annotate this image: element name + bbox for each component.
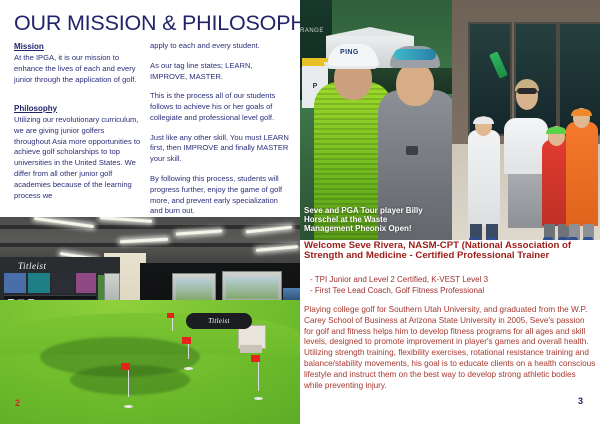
junior-3-cap [571, 109, 592, 116]
mission-philosophy-column: Mission At the IPGA, it is our mission t… [14, 41, 142, 201]
hole-cup [184, 367, 193, 370]
column-spacer [14, 95, 142, 103]
flag [167, 313, 174, 318]
photo-row: RANGE P PING Seve and PGA Tour player Bi… [300, 0, 600, 240]
wall-poster [76, 273, 96, 293]
mission-heading: Mission [14, 41, 142, 52]
magazine-spread: OUR MISSION & PHILOSOPHY Mission At the … [0, 0, 600, 424]
junior-3-shoe [583, 237, 593, 240]
coach-pants [508, 172, 544, 228]
body-paragraph-5: By following this process, students will… [150, 174, 290, 217]
credential-item: - TPI Junior and Level 2 Certified, K-VE… [310, 275, 596, 286]
philosophy-heading: Philosophy [14, 103, 142, 114]
wall-poster [28, 273, 50, 293]
simulator-image [176, 279, 213, 300]
left-page: OUR MISSION & PHILOSOPHY Mission At the … [0, 0, 300, 424]
wall-poster [52, 273, 74, 293]
page-number-left: 2 [15, 398, 20, 408]
junior-golfer-1 [468, 130, 500, 226]
simulator-image [226, 277, 277, 299]
junior-golfer-3 [566, 122, 598, 226]
coach-sunglasses-icon [517, 88, 537, 94]
body-paragraph-3: This is the process all of our students … [150, 91, 290, 123]
flag [182, 337, 191, 344]
billy-horschel-photo: RANGE P PING Seve and PGA Tour player Bi… [300, 0, 452, 240]
body-paragraph-2: As our tag line states; LEARN, IMPROVE, … [150, 61, 290, 83]
hole-cup [124, 405, 133, 408]
body-paragraph-4: Just like any other skill. You must LEAR… [150, 133, 290, 165]
mission-paragraph: At the IPGA, it is our mission to enhanc… [14, 53, 142, 85]
junior-1-visor [473, 117, 494, 124]
titleist-banner: Titleist [186, 313, 252, 329]
seve-head [396, 62, 434, 106]
credential-item: - First Tee Lead Coach, Golf Fitness Pro… [310, 286, 596, 297]
flag [121, 363, 130, 370]
wall-poster [4, 273, 26, 293]
philosophy-paragraph: Utilizing our revolutionary curriculum, … [14, 115, 142, 201]
mission-continued-column: apply to each and every student. As our … [150, 41, 290, 217]
credentials-list: - TPI Junior and Level 2 Certified, K-VE… [310, 275, 596, 296]
shirt-logo [406, 146, 418, 155]
body-paragraph-1: apply to each and every student. [150, 41, 290, 52]
green-contour [70, 365, 190, 395]
ping-logo: PING [340, 49, 359, 56]
trainer-biography: Playing college golf for Southern Utah U… [304, 305, 596, 392]
right-page: RANGE P PING Seve and PGA Tour player Bi… [300, 0, 600, 424]
titleist-wall-logo: Titleist [18, 261, 90, 271]
photo-caption: Seve and PGA Tour player Billy Horschel … [304, 207, 424, 234]
facility-photo: Titleist [0, 217, 300, 424]
junior-golfers-photo [452, 0, 600, 240]
sunglasses-icon [394, 49, 436, 60]
page-number-right: 3 [578, 396, 583, 406]
flag [251, 355, 260, 362]
hole-cup [254, 397, 263, 400]
coach-belt [508, 168, 544, 173]
ball-dispenser-base [240, 345, 262, 353]
page-title: OUR MISSION & PHILOSOPHY [14, 12, 296, 35]
junior-2-cap [546, 127, 567, 134]
trainer-heading: Welcome Seve Rivera, NASM-CPT (National … [304, 241, 596, 262]
ceiling-beam [0, 243, 300, 247]
